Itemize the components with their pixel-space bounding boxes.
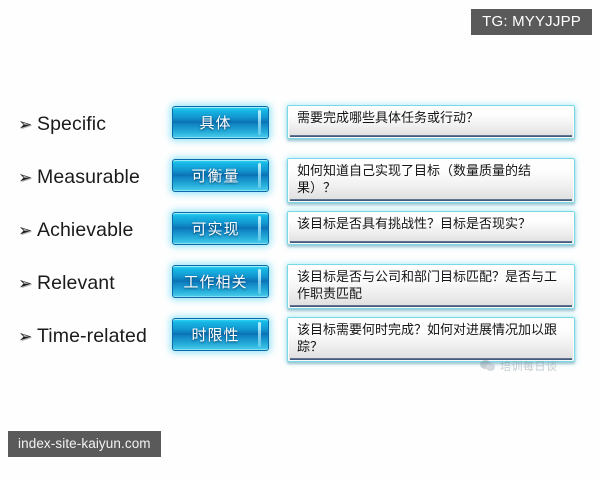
smart-term: ➢ Measurable — [18, 157, 140, 197]
smart-category-button[interactable]: 具体 — [172, 106, 269, 139]
smart-term: ➢ Time-related — [18, 316, 147, 356]
arrow-bullet-icon: ➢ — [18, 328, 37, 345]
smart-term-label: Achievable — [37, 219, 133, 242]
arrow-bullet-icon: ➢ — [18, 169, 37, 186]
smart-category-label: 可实现 — [191, 218, 239, 239]
smart-term-label: Specific — [37, 113, 106, 136]
smart-term-label: Relevant — [37, 272, 115, 295]
smart-row: ➢ Achievable 可实现 该目标是否具有挑战性？目标是否现实？ — [0, 210, 600, 263]
smart-question-text: 该目标是否具有挑战性？目标是否现实？ — [297, 216, 531, 233]
smart-category-button[interactable]: 时限性 — [172, 318, 269, 351]
smart-category-label: 可衡量 — [191, 165, 239, 186]
smart-term-label: Measurable — [37, 166, 140, 189]
smart-term: ➢ Specific — [18, 104, 106, 144]
smart-question-box[interactable]: 该目标是否具有挑战性？目标是否现实？ — [287, 211, 575, 245]
smart-row: ➢ Time-related 时限性 该目标需要何时完成？如何对进展情况加以跟踪… — [0, 316, 600, 369]
site-url-badge: index-site-kaiyun.com — [8, 431, 161, 458]
arrow-bullet-icon: ➢ — [18, 116, 37, 133]
smart-question-text: 该目标需要何时完成？如何对进展情况加以跟踪？ — [297, 322, 566, 356]
smart-question-box[interactable]: 需要完成哪些具体任务或行动？ — [287, 105, 575, 139]
smart-row: ➢ Specific 具体 需要完成哪些具体任务或行动？ — [0, 104, 600, 157]
smart-category-button[interactable]: 工作相关 — [172, 265, 269, 298]
smart-question-text: 如何知道自己实现了目标（数量质量的结果）？ — [297, 163, 566, 197]
tg-tag-badge: TG: MYYJJPP — [471, 9, 592, 35]
smart-question-text: 需要完成哪些具体任务或行动？ — [297, 110, 479, 127]
smart-question-box[interactable]: 该目标是否与公司和部门目标匹配？是否与工作职责匹配 — [287, 264, 575, 309]
slide-canvas: TG: MYYJJPP ➢ Specific 具体 需要完成哪些具体任务或行动？… — [0, 0, 600, 480]
smart-category-button[interactable]: 可衡量 — [172, 159, 269, 192]
smart-question-text: 该目标是否与公司和部门目标匹配？是否与工作职责匹配 — [297, 269, 566, 303]
arrow-bullet-icon: ➢ — [18, 275, 37, 292]
smart-question-box[interactable]: 该目标需要何时完成？如何对进展情况加以跟踪？ — [287, 317, 575, 362]
smart-category-label: 时限性 — [191, 324, 239, 345]
smart-question-box[interactable]: 如何知道自己实现了目标（数量质量的结果）？ — [287, 158, 575, 203]
smart-category-label: 工作相关 — [183, 271, 247, 292]
smart-category-label: 具体 — [199, 112, 231, 133]
smart-row: ➢ Measurable 可衡量 如何知道自己实现了目标（数量质量的结果）？ — [0, 157, 600, 210]
smart-term: ➢ Relevant — [18, 263, 115, 303]
smart-category-button[interactable]: 可实现 — [172, 212, 269, 245]
smart-goal-list: ➢ Specific 具体 需要完成哪些具体任务或行动？ ➢ Measurabl… — [0, 104, 600, 369]
arrow-bullet-icon: ➢ — [18, 222, 37, 239]
smart-row: ➢ Relevant 工作相关 该目标是否与公司和部门目标匹配？是否与工作职责匹… — [0, 263, 600, 316]
smart-term-label: Time-related — [37, 325, 147, 348]
smart-term: ➢ Achievable — [18, 210, 133, 250]
